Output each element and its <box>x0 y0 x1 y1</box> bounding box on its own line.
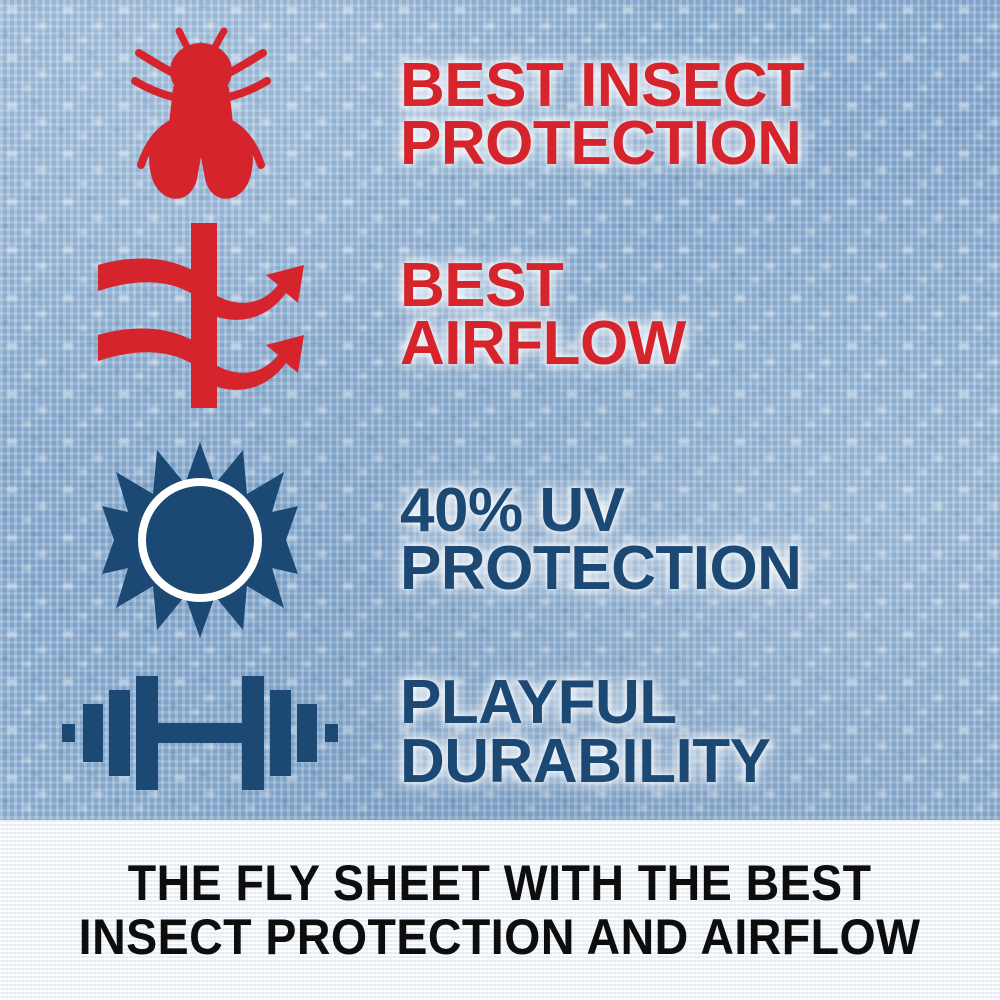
caption-bar: THE FLY SHEET WITH THE BEST INSECT PROTE… <box>0 820 1000 1000</box>
feature-text-cell: BEST AIRFLOW <box>400 257 1000 374</box>
feature-icon-cell <box>0 668 400 798</box>
feature-row-durability: PLAYFUL DURABILITY <box>0 645 1000 820</box>
dumbbell-icon <box>60 668 340 798</box>
feature-row-airflow: BEST AIRFLOW <box>0 215 1000 415</box>
fly-icon <box>113 23 288 208</box>
feature-icon-cell <box>0 223 400 408</box>
feature-text-cell: 40% UV PROTECTION <box>400 482 1000 599</box>
caption-headline: THE FLY SHEET WITH THE BEST INSECT PROTE… <box>79 856 921 964</box>
feature-label-insect-protection: BEST INSECT PROTECTION <box>400 57 980 174</box>
feature-text-cell: BEST INSECT PROTECTION <box>400 57 1000 174</box>
product-feature-infographic: BEST INSECT PROTECTION BEST AIRFLOW <box>0 0 1000 1000</box>
feature-icon-cell <box>0 440 400 640</box>
feature-text-cell: PLAYFUL DURABILITY <box>400 674 1000 791</box>
feature-row-insect-protection: BEST INSECT PROTECTION <box>0 20 1000 210</box>
airflow-arrows-icon <box>90 223 310 408</box>
feature-list: BEST INSECT PROTECTION BEST AIRFLOW <box>0 0 1000 820</box>
feature-icon-cell <box>0 23 400 208</box>
sun-burst-icon <box>100 440 300 640</box>
feature-label-airflow: BEST AIRFLOW <box>400 257 980 374</box>
feature-row-uv-protection: 40% UV PROTECTION <box>0 435 1000 645</box>
feature-label-durability: PLAYFUL DURABILITY <box>400 674 980 791</box>
feature-label-uv-protection: 40% UV PROTECTION <box>400 482 980 599</box>
